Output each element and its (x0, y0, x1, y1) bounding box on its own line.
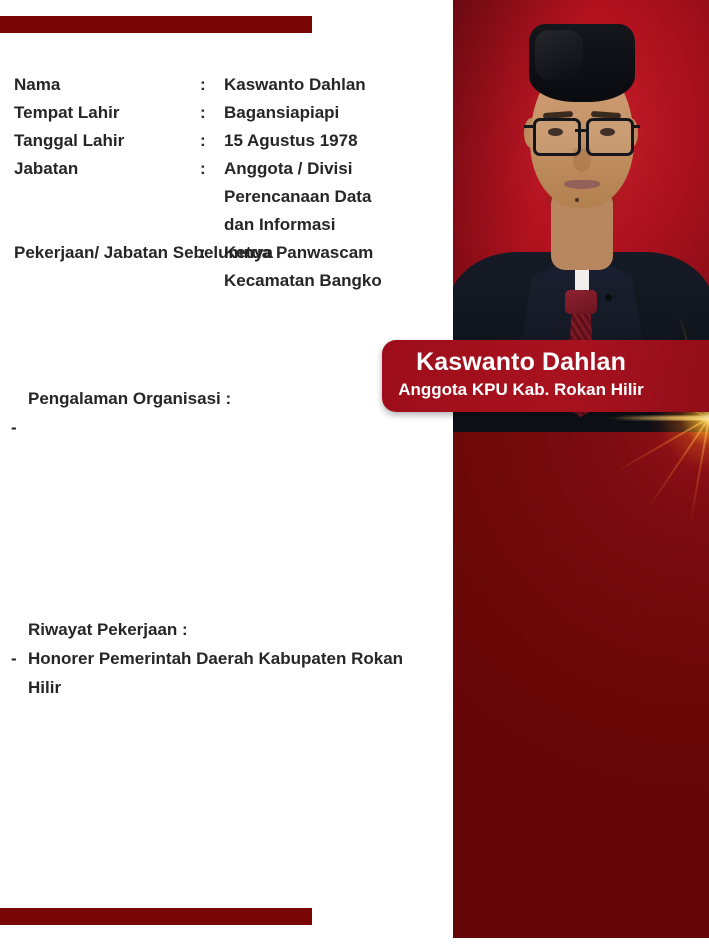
info-colon-tanggal-lahir: : (200, 127, 224, 155)
necktie-knot (565, 290, 597, 314)
info-value-tanggal-lahir-line-1: 15 Agustus 1978 (224, 127, 434, 155)
info-colon-pekerjaan-sebelumnya: : (200, 239, 224, 267)
lapel-pin-icon (605, 294, 612, 301)
chin-mole (575, 198, 579, 202)
info-value-pekerjaan-sebelumnya-line-2: Kecamatan Bangko (224, 267, 434, 295)
info-value-pekerjaan-sebelumnya: Ketua Panwascam Kecamatan Bangko (224, 239, 434, 295)
top-accent-bar (0, 16, 312, 33)
info-colon-jabatan: : (200, 155, 224, 183)
info-row-nama: Nama : Kaswanto Dahlan (14, 71, 434, 99)
eyeglasses-icon (533, 118, 631, 152)
profile-card: Nama : Kaswanto Dahlan Tempat Lahir : Ba… (0, 0, 709, 945)
info-label-nama: Nama (14, 71, 200, 99)
info-value-pekerjaan-sebelumnya-line-1: Ketua Panwascam (224, 239, 434, 267)
info-value-tempat-lahir: Bagansiapiapi (224, 99, 434, 127)
organisasi-item: - (11, 413, 431, 442)
eyeglass-bridge (575, 129, 588, 132)
portrait-panel (453, 0, 709, 938)
organisasi-item-dash: - (11, 413, 28, 442)
info-value-jabatan-line-2: Perencanaan Data (224, 183, 434, 211)
info-value-jabatan: Anggota / Divisi Perencanaan Data dan In… (224, 155, 434, 239)
info-label-pekerjaan-sebelumnya-line-1: Pekerjaan/ Jabatan (14, 243, 168, 262)
info-value-nama-line-1: Kaswanto Dahlan (224, 71, 434, 99)
info-row-tempat-lahir: Tempat Lahir : Bagansiapiapi (14, 99, 434, 127)
peci-cap (529, 24, 635, 102)
section-title-riwayat-pekerjaan: Riwayat Pekerjaan : (11, 615, 431, 644)
pekerjaan-item-text: Honorer Pemerintah Daerah Kabupaten Roka… (28, 644, 431, 702)
eyeglass-temple-left (524, 125, 533, 128)
eyeglass-lens-right (586, 118, 634, 156)
bottom-accent-bar (0, 908, 312, 925)
info-row-jabatan: Jabatan : Anggota / Divisi Perencanaan D… (14, 155, 434, 239)
pekerjaan-item-text-line-1: Honorer Pemerintah Daerah Kabupaten (28, 649, 346, 668)
info-label-jabatan: Jabatan (14, 155, 200, 183)
info-label-tempat-lahir: Tempat Lahir (14, 99, 200, 127)
banner-name: Kaswanto Dahlan (382, 346, 709, 378)
info-value-nama: Kaswanto Dahlan (224, 71, 434, 99)
section-title-pengalaman-organisasi: Pengalaman Organisasi : (11, 384, 431, 413)
eyeglass-temple-right (631, 125, 640, 128)
info-colon-tempat-lahir: : (200, 99, 224, 127)
info-colon-nama: : (200, 71, 224, 99)
info-value-tanggal-lahir: 15 Agustus 1978 (224, 127, 434, 155)
info-label-pekerjaan-sebelumnya: Pekerjaan/ Jabatan Sebelumnya (14, 239, 200, 267)
info-value-jabatan-line-1: Anggota / Divisi (224, 155, 434, 183)
pekerjaan-item-dash: - (11, 644, 28, 673)
info-row-tanggal-lahir: Tanggal Lahir : 15 Agustus 1978 (14, 127, 434, 155)
profile-info-table: Nama : Kaswanto Dahlan Tempat Lahir : Ba… (14, 71, 434, 295)
banner-role: Anggota KPU Kab. Rokan Hilir (382, 378, 709, 401)
info-value-jabatan-line-3: dan Informasi (224, 211, 434, 239)
info-label-tanggal-lahir: Tanggal Lahir (14, 127, 200, 155)
info-value-tempat-lahir-line-1: Bagansiapiapi (224, 99, 434, 127)
name-banner: Kaswanto Dahlan Anggota KPU Kab. Rokan H… (382, 340, 709, 412)
section-riwayat-pekerjaan: Riwayat Pekerjaan : - Honorer Pemerintah… (11, 615, 431, 702)
pekerjaan-item: - Honorer Pemerintah Daerah Kabupaten Ro… (11, 644, 431, 702)
section-pengalaman-organisasi: Pengalaman Organisasi : - (11, 384, 431, 442)
mouth (564, 180, 600, 189)
eyeglass-lens-left (533, 118, 581, 156)
info-row-pekerjaan-sebelumnya: Pekerjaan/ Jabatan Sebelumnya : Ketua Pa… (14, 239, 434, 295)
